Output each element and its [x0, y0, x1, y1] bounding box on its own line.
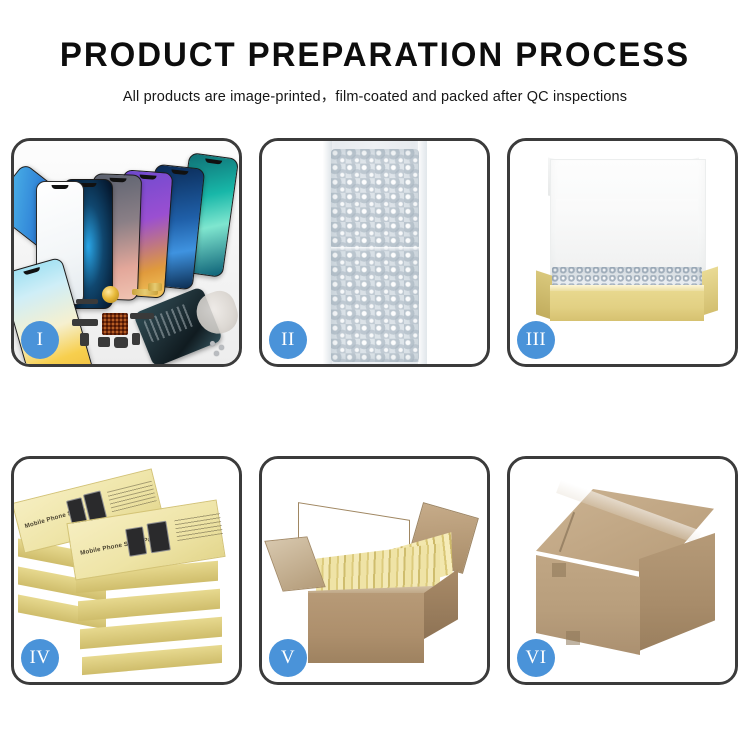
box-label-phone-icon: [146, 521, 170, 554]
box-front-kraft: [550, 291, 704, 321]
phone-notch-icon: [171, 169, 188, 175]
screw-part-icon: [219, 345, 224, 350]
vibrator-part: [130, 313, 154, 319]
step-badge-6: VI: [517, 639, 555, 677]
phone-notch-icon: [23, 267, 40, 276]
speaker-mesh-part: [114, 337, 128, 348]
process-step-panel-4[interactable]: Mobile Phone Spare Parts Mobile Phone Sp…: [11, 456, 242, 685]
bubble-pattern: [331, 149, 419, 362]
step-badge-2: II: [269, 321, 307, 359]
pouch-seam: [331, 247, 419, 251]
screw-part-icon: [210, 341, 215, 346]
carton-front-panel: [308, 593, 424, 663]
speaker-part-icon: [102, 286, 119, 303]
step-badge-5: V: [269, 639, 307, 677]
step-badge-1: I: [21, 321, 59, 359]
process-step-panel-2[interactable]: II: [259, 138, 490, 367]
phone-notch-icon: [52, 185, 69, 189]
step-badge-4: IV: [21, 639, 59, 677]
carton-tab-lower: [566, 631, 580, 645]
flex-part-connector: [72, 319, 98, 326]
process-step-panel-3[interactable]: III: [507, 138, 738, 367]
process-step-grid: I II: [11, 138, 739, 685]
bubble-wrap-pouch: [323, 141, 427, 364]
step-badge-3: III: [517, 321, 555, 359]
box-edge-right: [702, 266, 718, 315]
carton-tab-upper: [552, 563, 566, 577]
page-header: PRODUCT PREPARATION PROCESS All products…: [0, 0, 750, 106]
gold-flex-tab: [148, 283, 162, 291]
process-step-panel-6[interactable]: VI: [507, 456, 738, 685]
pouch-edge-right: [418, 141, 427, 364]
camera-part: [80, 333, 89, 346]
product-preparation-page: PRODUCT PREPARATION PROCESS All products…: [0, 0, 750, 750]
button-part: [98, 337, 110, 347]
phone-notch-icon: [109, 178, 126, 183]
process-step-panel-5[interactable]: V: [259, 456, 490, 685]
mesh-chip-part: [102, 313, 128, 335]
box-label-spec-lines: [107, 480, 157, 512]
foam-sheet: [556, 199, 698, 271]
phone-notch-icon: [205, 158, 222, 164]
box-label-phone-icon: [125, 526, 147, 556]
box-label-spec-lines: [174, 512, 223, 541]
battery-part: [132, 333, 140, 345]
screw-part-icon: [214, 351, 219, 356]
stacked-box-edge: [82, 645, 222, 675]
process-step-panel-1[interactable]: I: [11, 138, 242, 367]
page-subtitle: All products are image-printed，film-coat…: [0, 74, 750, 106]
page-title: PRODUCT PREPARATION PROCESS: [11, 0, 739, 74]
flex-part-bar: [76, 299, 98, 304]
phone-notch-icon: [139, 175, 156, 180]
